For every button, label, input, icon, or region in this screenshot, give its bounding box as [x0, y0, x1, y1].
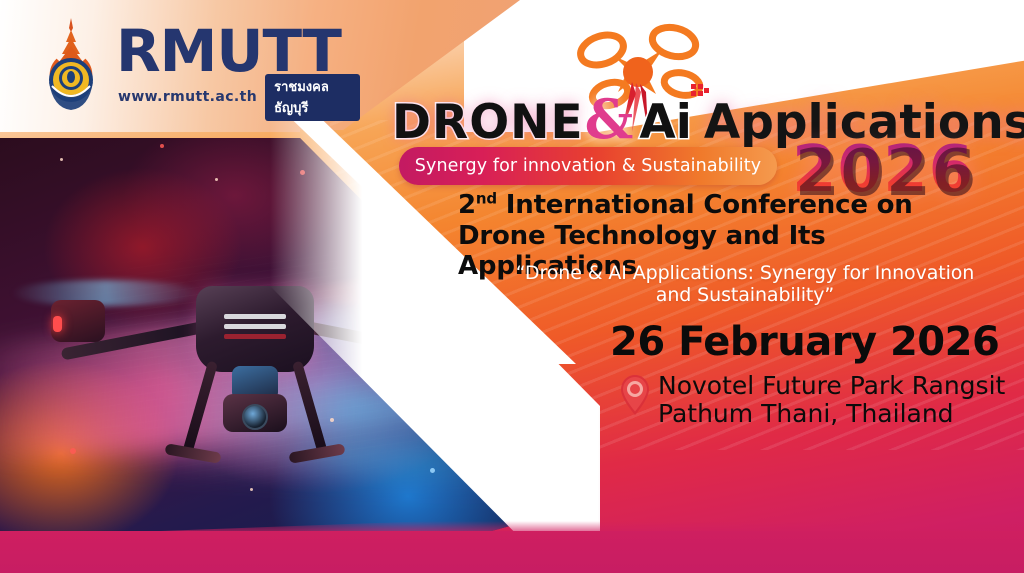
sparkle — [250, 488, 253, 491]
drone-body — [196, 286, 314, 372]
drone-vent — [224, 324, 286, 329]
sparkle — [160, 144, 164, 148]
event-tagline-banner: Synergy for innovation & Sustainability — [399, 147, 777, 185]
drone-illustration — [45, 234, 465, 484]
drone-led — [53, 316, 62, 332]
conference-title-line1: International Conference on — [506, 190, 913, 220]
wordmark-ampersand: & — [585, 92, 634, 146]
venue-line2: Pathum Thani, Thailand — [658, 399, 954, 428]
drone-vent — [224, 334, 286, 339]
propeller-blur-left — [11, 280, 201, 306]
conference-ordinal-suffix: nd — [476, 189, 497, 207]
conference-banner: RMUTT www.rmutt.ac.th ราชมงคลธัญบุรี — [0, 0, 1024, 573]
drone-camera — [223, 394, 287, 432]
drone-leg-left — [182, 360, 218, 455]
drone-motor-right — [405, 300, 459, 342]
bottom-accent-bar — [0, 531, 1024, 573]
conference-theme-line1: “Drone & AI Applications: Synergy for In… — [516, 262, 975, 284]
sparkle — [60, 158, 63, 161]
camera-lens — [242, 404, 268, 430]
ai-pixel-dots-icon — [691, 84, 711, 102]
conference-date: 26 February 2026 — [610, 322, 999, 362]
conference-theme-line2: and Sustainability” — [656, 284, 834, 306]
sparkle — [300, 170, 305, 175]
drone-motor-left — [51, 300, 105, 342]
rmutt-subline: www.rmutt.ac.th ราชมงคลธัญบุรี — [118, 86, 360, 108]
event-tagline-text: Synergy for innovation & Sustainability — [415, 156, 761, 176]
rmutt-thai-name: ราชมงคลธัญบุรี — [265, 74, 360, 121]
venue-line1: Novotel Future Park Rangsit — [658, 371, 1005, 400]
drone-led — [448, 316, 457, 332]
map-pin-icon — [620, 374, 650, 416]
sparkle — [215, 178, 218, 181]
rmutt-royal-seal-icon — [36, 16, 106, 116]
rmutt-website[interactable]: www.rmutt.ac.th — [118, 89, 265, 105]
rmutt-wordmark: RMUTT — [116, 22, 341, 80]
conference-ordinal: 2 — [458, 190, 476, 220]
rmutt-logo[interactable]: RMUTT www.rmutt.ac.th ราชมงคลธัญบุรี — [30, 14, 360, 118]
drone-leg-right — [292, 360, 328, 455]
venue-text: Novotel Future Park Rangsit Pathum Thani… — [658, 372, 1005, 428]
wordmark-ai: Ai — [639, 99, 692, 146]
event-logo-block: DRONE & Ai Applications Synergy for inno… — [392, 18, 1024, 188]
conference-venue: Novotel Future Park Rangsit Pathum Thani… — [620, 372, 1005, 428]
conference-theme: “Drone & AI Applications: Synergy for In… — [505, 262, 985, 306]
wordmark-drone: DRONE — [392, 99, 584, 146]
drone-vent — [224, 314, 286, 319]
